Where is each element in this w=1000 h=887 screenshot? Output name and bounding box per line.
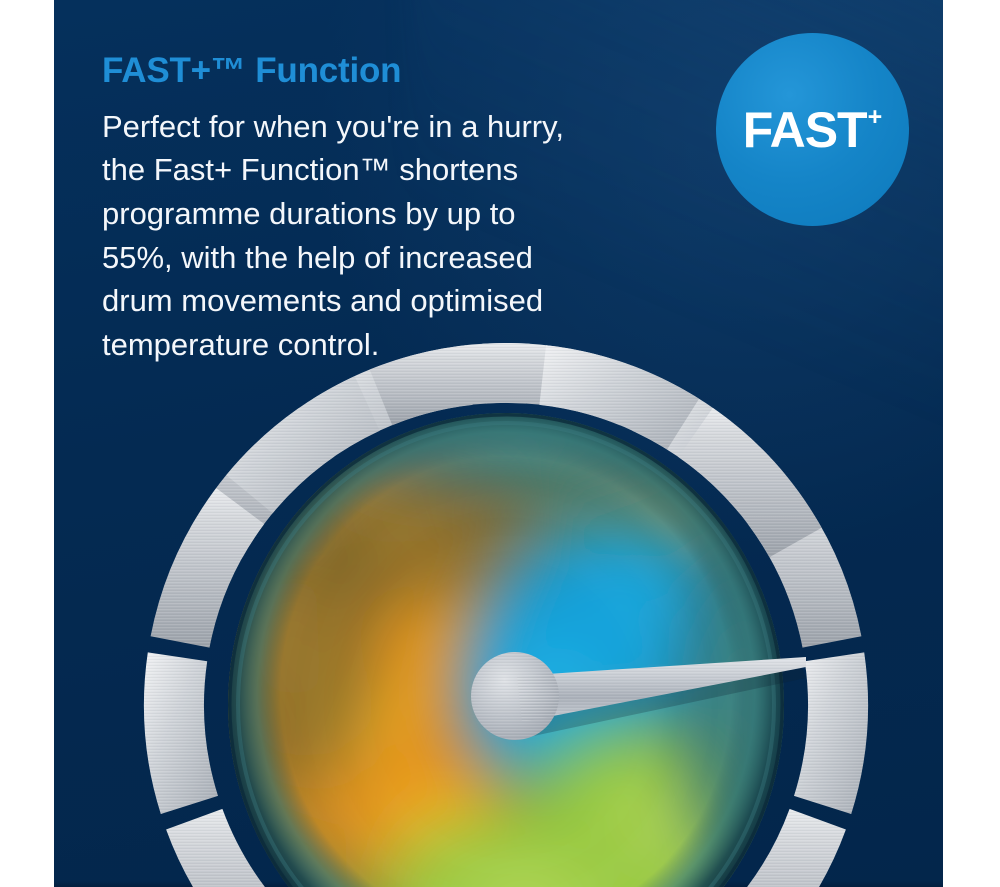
body-line: 55%, with the help of increased [102,236,682,280]
dial-tick-texture [226,376,379,513]
feature-panel-screenshot: FAST+™ Function Perfect for when you're … [0,0,1000,887]
navy-background-panel: FAST+™ Function Perfect for when you're … [54,0,943,887]
badge-superscript-plus: + [868,103,883,131]
body-line: drum movements and optimised [102,279,682,323]
dial-tick [794,652,868,814]
dial-tick-segments [144,343,868,887]
dial-tick [679,408,822,557]
badge-label-wrap: FAST+ [716,105,909,155]
dial-tick [151,488,265,647]
dial-tick-texture [166,809,296,887]
page-title: FAST+™ Function [102,52,682,91]
dial-tick [166,809,296,887]
dial-tick-texture [151,488,265,647]
drum-swirl [164,370,839,887]
dial-tick-texture [794,652,868,814]
dial-tick-texture [748,488,862,647]
badge-word: FAST [743,102,867,158]
dial-tick-texture [716,809,846,887]
dial-tick [748,488,862,647]
dial-tick [190,408,333,557]
dial-needle [471,652,806,740]
body-line: Perfect for when you're in a hurry, [102,105,682,149]
dial-tick [226,376,379,513]
body-line: temperature control. [102,323,682,367]
bottom-shadow-band [54,881,943,887]
body-line: the Fast+ Function™ shortens [102,148,682,192]
dial-tick [716,809,846,887]
dial-tick-texture [190,408,333,557]
dial-tick [144,652,218,814]
fast-plus-badge: FAST+ [716,33,909,226]
dial-tick [632,376,785,513]
copy-block: FAST+™ Function Perfect for when you're … [102,52,682,367]
body-line: programme durations by up to [102,192,682,236]
dial-tick-texture [144,652,218,814]
dial-tick-texture [679,408,822,557]
dial-tick-texture [632,376,785,513]
body-paragraph: Perfect for when you're in a hurry, the … [102,105,682,367]
